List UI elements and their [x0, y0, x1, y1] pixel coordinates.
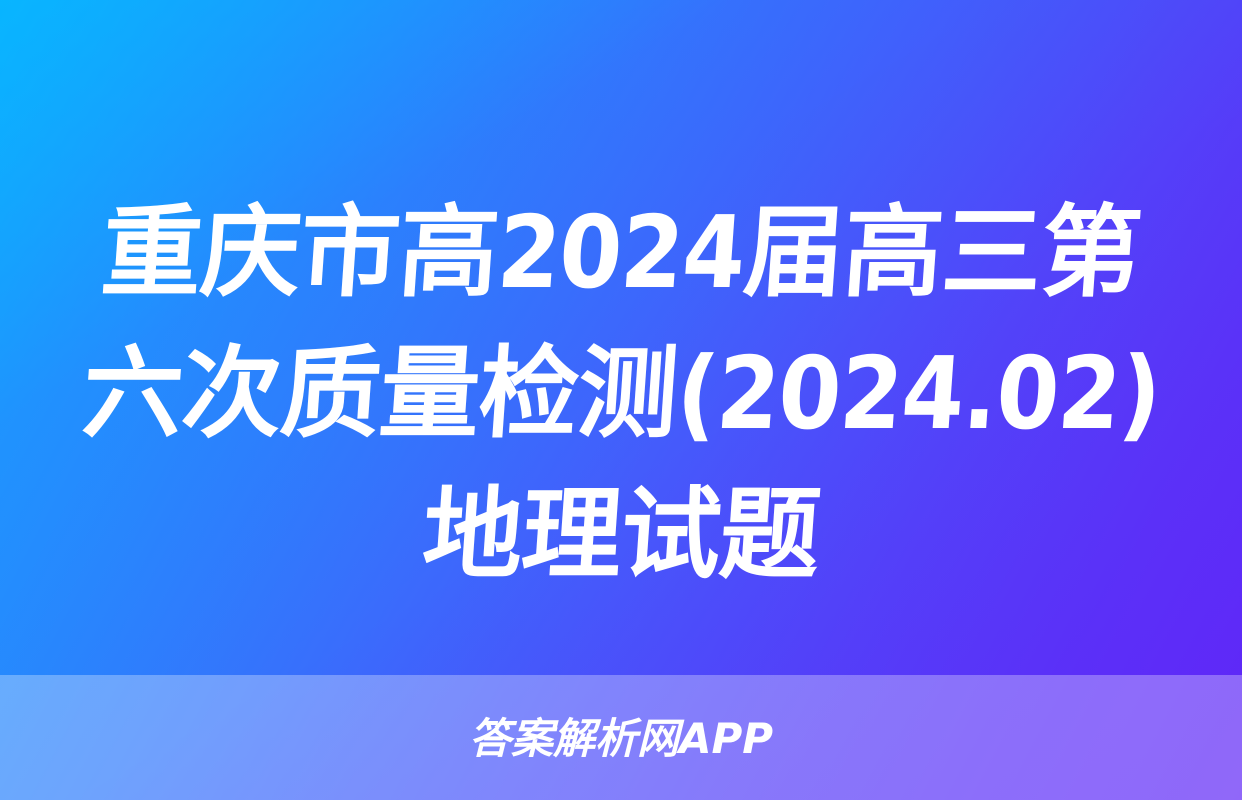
title-line-2: 六次质量检测(2024.02) [78, 323, 1165, 464]
title-line-3: 地理试题 [418, 464, 824, 605]
watermark-band: 答案解析网APP [0, 675, 1242, 800]
poster-canvas: 重庆市高2024届高三第 六次质量检测(2024.02) 地理试题 答案解析网A… [0, 0, 1242, 800]
watermark-label: 答案解析网APP [469, 716, 773, 762]
title-line-1: 重庆市高2024届高三第 [97, 182, 1145, 323]
page-title: 重庆市高2024届高三第 六次质量检测(2024.02) 地理试题 [0, 182, 1242, 605]
